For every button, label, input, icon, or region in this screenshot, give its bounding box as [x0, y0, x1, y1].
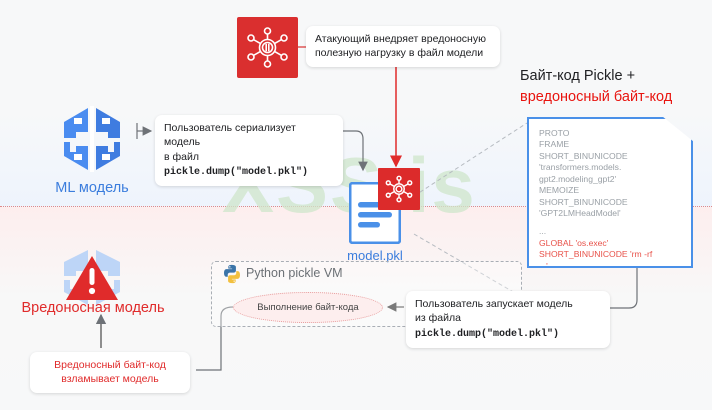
callout-run-prefix: из файла	[415, 312, 461, 324]
bytecode-list: PROTO FRAME SHORT_BINUNICODE 'transforme…	[539, 128, 681, 283]
callout-breaks-line1: Вредоносный байт-код	[39, 358, 181, 372]
opcode-line: PROTO	[539, 128, 681, 139]
attacker-icon	[237, 17, 298, 78]
malicious-model-label: Вредоносная модель	[8, 300, 178, 316]
virus-badge-icon	[378, 168, 420, 210]
python-vm-title: Python pickle VM	[246, 266, 343, 280]
callout-serialize-prefix: в файл	[164, 151, 199, 163]
vm-step-bytecode-execution: Выполнение байт-кода	[233, 292, 383, 323]
opcode-line-malicious: SHORT_BINUNICODE 'rm -rf	[539, 249, 681, 260]
callout-inject: Атакующий внедряет вредоносную полезную …	[306, 26, 500, 67]
bytecode-panel: PROTO FRAME SHORT_BINUNICODE 'transforme…	[527, 117, 693, 268]
panel-title-danger: вредоносный байт-код	[520, 87, 712, 108]
callout-inject-line1: Атакующий внедряет вредоносную	[315, 33, 486, 45]
callout-inject-line2: полезную нагрузку в файл модели	[315, 47, 483, 59]
opcode-line: 'GPT2LMHeadModel'	[539, 208, 681, 219]
opcode-line: SHORT_BINUNICODE	[539, 197, 681, 208]
leader-top	[414, 123, 527, 196]
callout-run-code: pickle.dump("model.pkl")	[415, 329, 559, 340]
opcode-line: MEMOIZE	[539, 185, 681, 196]
callout-breaks: Вредоносный байт-код взламывает модель	[30, 352, 190, 393]
panel-title-normal: Байт-код Pickle +	[520, 66, 712, 87]
panel-title: Байт-код Pickle + вредоносный байт-код	[520, 66, 712, 107]
opcode-line: gpt2.modeling_gpt2'	[539, 174, 681, 185]
callout-run-line1: Пользователь запускает модель	[415, 297, 601, 311]
ml-model-icon	[44, 104, 140, 174]
python-icon	[222, 264, 242, 284]
opcode-ellipsis: ...	[539, 226, 681, 237]
callout-run: Пользователь запускает модель из файла p…	[406, 291, 610, 348]
opcode-line: SHORT_BINUNICODE	[539, 151, 681, 162]
callout-serialize: Пользователь сериализует модель в файл p…	[155, 115, 343, 186]
diagram-canvas: XSS.is	[0, 0, 712, 410]
callout-serialize-line1: Пользователь сериализует модель	[164, 121, 334, 150]
opcode-line: FRAME	[539, 139, 681, 150]
ml-model-label: ML модель	[32, 180, 152, 196]
opcode-line-malicious: GLOBAL 'os.exec'	[539, 238, 681, 249]
opcode-line: 'transformers.models.	[539, 162, 681, 173]
callout-breaks-line2: взламывает модель	[39, 372, 181, 386]
callout-serialize-code: pickle.dump("model.pkl")	[164, 167, 308, 178]
